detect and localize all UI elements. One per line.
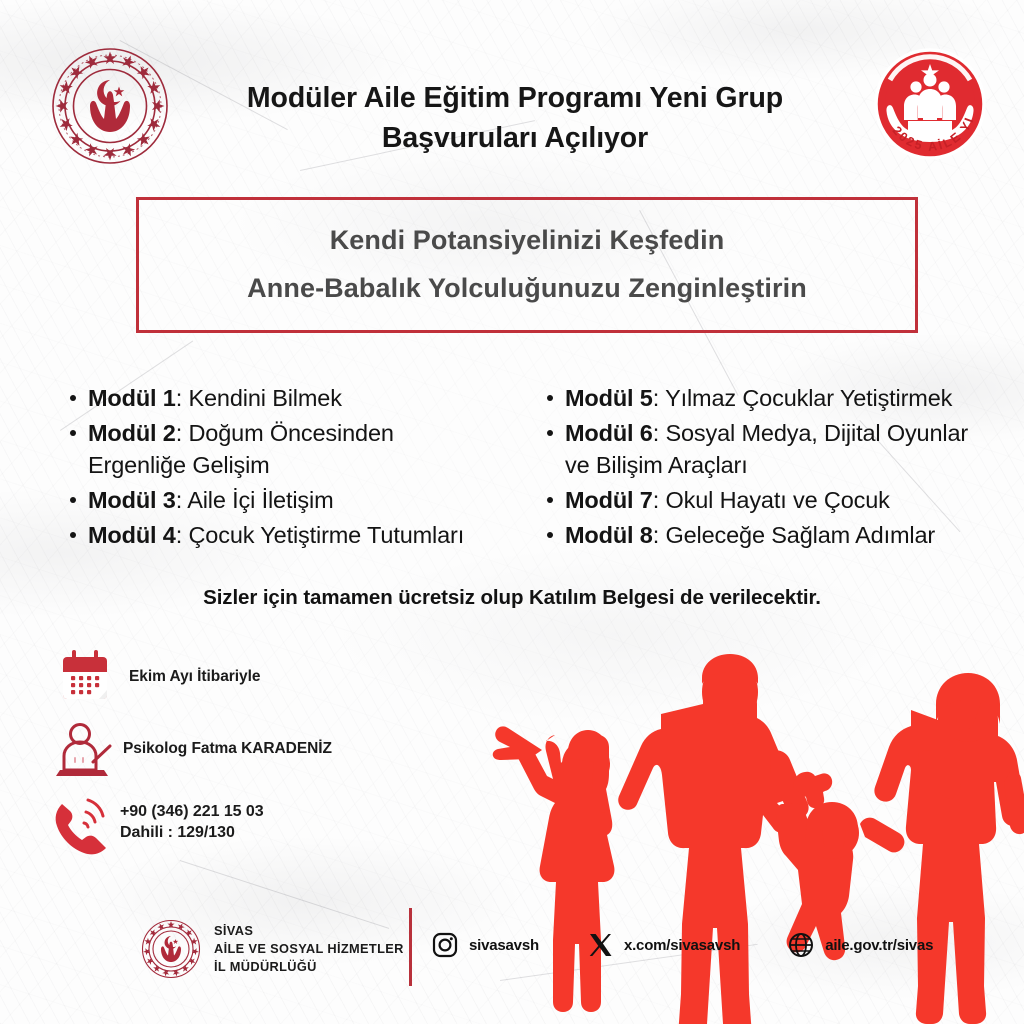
list-item: Modül 2: Doğum Öncesinden Ergenliğe Geli… [64, 418, 497, 482]
list-item: Modül 5: Yılmaz Çocuklar Yetiştirmek [541, 383, 974, 415]
free-participation-note: Sizler için tamamen ücretsiz olup Katılı… [0, 586, 1024, 610]
module-separator: : [653, 522, 666, 548]
list-item: Modül 3: Aile İçi İletişim [64, 485, 497, 517]
ministry-seal-logo-small [140, 918, 202, 980]
module-separator: : [653, 420, 666, 446]
module-number: Modül 6 [565, 420, 653, 446]
module-separator: : [653, 385, 665, 411]
subtitle-line-2: Anne-Babalık Yolculuğunuzu Zenginleştiri… [247, 274, 807, 304]
module-separator: : [176, 385, 189, 411]
instagram-icon [432, 932, 458, 958]
contact-date-row: Ekim Ayı İtibariyle [55, 646, 260, 708]
phone-icon [48, 790, 110, 856]
module-separator: : [176, 487, 187, 513]
social-link-x[interactable]: x.com/sivasavsh [587, 932, 740, 958]
modules-column-right: Modül 5: Yılmaz Çocuklar Yetiştirmek Mod… [513, 383, 974, 555]
module-number: Modül 3 [88, 487, 176, 513]
module-number: Modül 1 [88, 385, 176, 411]
contact-date-text: Ekim Ayı İtibariyle [129, 667, 260, 687]
globe-icon [788, 932, 814, 958]
social-links: sivasavsh x.com/sivasavsh aile.gov.tr/si… [432, 932, 933, 958]
social-label-x: x.com/sivasavsh [624, 937, 740, 954]
module-separator: : [653, 487, 666, 513]
ministry-seal-logo [48, 44, 172, 168]
title-line-1: Modüler Aile Eğitim Programı Yeni Grup [247, 82, 783, 114]
footer-org-line-2: AİLE VE SOSYAL HİZMETLER [214, 940, 404, 958]
module-name: Yılmaz Çocuklar Yetiştirmek [665, 385, 952, 411]
list-item: Modül 8: Geleceğe Sağlam Adımlar [541, 520, 974, 552]
module-name: Çocuk Yetiştirme Tutumları [188, 522, 464, 548]
module-number: Modül 4 [88, 522, 176, 548]
social-link-website[interactable]: aile.gov.tr/sivas [788, 932, 933, 958]
list-item: Modül 1: Kendini Bilmek [64, 383, 497, 415]
footer-org-line-1: SİVAS [214, 922, 404, 940]
footer-logo-block: SİVAS AİLE VE SOSYAL HİZMETLER İL MÜDÜRL… [140, 918, 404, 980]
title-line-2: Başvuruları Açılıyor [170, 118, 860, 158]
modules-list: Modül 1: Kendini Bilmek Modül 2: Doğum Ö… [64, 383, 974, 555]
contact-phone-text: +90 (346) 221 15 03 Dahili : 129/130 [120, 802, 264, 844]
family-silhouette-artwork [418, 612, 1024, 1024]
module-number: Modül 2 [88, 420, 176, 446]
contact-person-row: Psikolog Fatma KARADENİZ [55, 718, 332, 780]
list-item: Modül 7: Okul Hayatı ve Çocuk [541, 485, 974, 517]
modules-column-left: Modül 1: Kendini Bilmek Modül 2: Doğum Ö… [64, 383, 497, 555]
poster-canvas: 2025 AİLE YILI Modüler Aile Eğitim Progr… [0, 0, 1024, 1024]
social-link-instagram[interactable]: sivasavsh [432, 932, 539, 958]
contact-phone-row: +90 (346) 221 15 03 Dahili : 129/130 [48, 790, 264, 856]
social-label-website: aile.gov.tr/sivas [825, 937, 933, 954]
presenter-icon [55, 718, 115, 780]
module-name: Okul Hayatı ve Çocuk [665, 487, 889, 513]
footer-divider [409, 908, 412, 986]
family-year-2025-logo: 2025 AİLE YILI [866, 40, 994, 172]
x-twitter-icon [587, 932, 613, 958]
module-separator: : [176, 420, 189, 446]
module-number: Modül 5 [565, 385, 653, 411]
module-name: Geleceğe Sağlam Adımlar [665, 522, 935, 548]
list-item: Modül 6: Sosyal Medya, Dijital Oyunlar v… [541, 418, 974, 482]
footer-org-text: SİVAS AİLE VE SOSYAL HİZMETLER İL MÜDÜRL… [214, 922, 404, 976]
list-item: Modül 4: Çocuk Yetiştirme Tutumları [64, 520, 497, 552]
phone-number: +90 (346) 221 15 03 [120, 802, 264, 823]
poster-title: Modüler Aile Eğitim Programı Yeni Grup B… [170, 78, 860, 159]
social-label-instagram: sivasavsh [469, 937, 539, 954]
module-number: Modül 8 [565, 522, 653, 548]
module-name: Kendini Bilmek [188, 385, 341, 411]
footer-org-line-3: İL MÜDÜRLÜĞÜ [214, 958, 404, 976]
calendar-icon [55, 646, 115, 708]
module-number: Modül 7 [565, 487, 653, 513]
subtitle-box: Kendi Potansiyelinizi Keşfedin Anne-Baba… [136, 197, 918, 333]
subtitle-line-1: Kendi Potansiyelinizi Keşfedin [330, 226, 725, 256]
module-separator: : [176, 522, 189, 548]
module-name: Aile İçi İletişim [187, 487, 333, 513]
phone-extension: Dahili : 129/130 [120, 823, 264, 844]
contact-person-text: Psikolog Fatma KARADENİZ [123, 739, 332, 759]
